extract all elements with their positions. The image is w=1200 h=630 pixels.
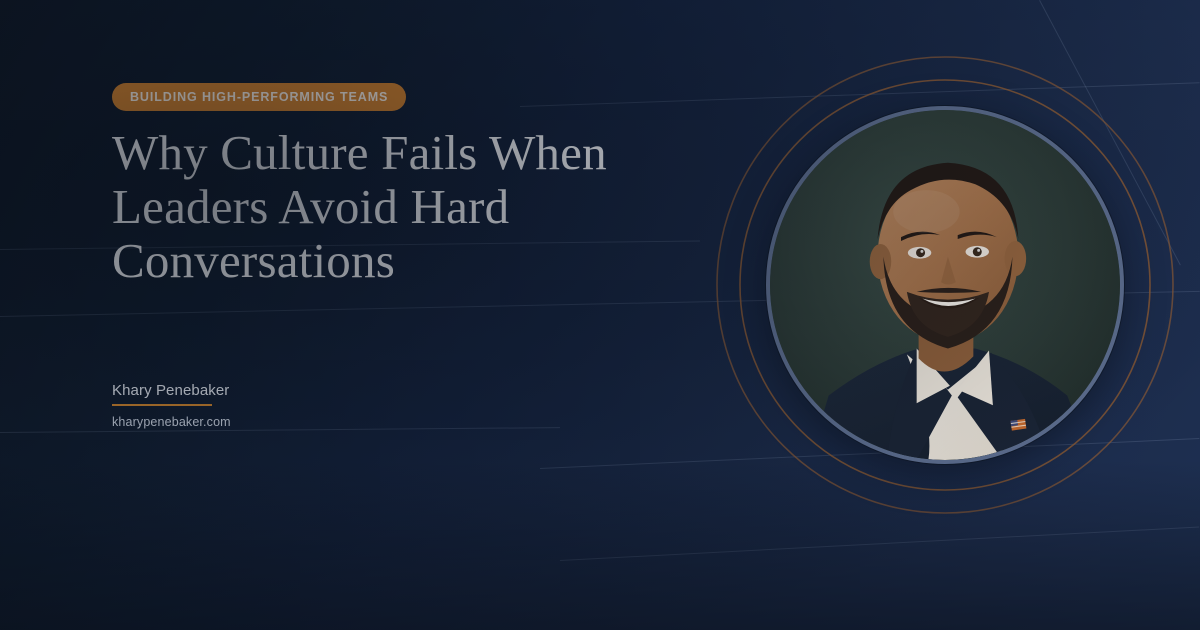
author-portrait	[766, 106, 1124, 464]
social-share-card: BUILDING HIGH-PERFORMING TEAMS Why Cultu…	[0, 0, 1200, 630]
page-title: Why Culture Fails When Leaders Avoid Har…	[112, 126, 632, 288]
website-url: kharypenebaker.com	[112, 415, 231, 429]
byline: Khary Penebaker kharypenebaker.com	[112, 381, 231, 429]
author-name: Khary Penebaker	[112, 381, 231, 400]
category-badge: BUILDING HIGH-PERFORMING TEAMS	[112, 83, 406, 111]
text-content: BUILDING HIGH-PERFORMING TEAMS Why Cultu…	[112, 0, 712, 630]
byline-rule	[112, 404, 212, 406]
